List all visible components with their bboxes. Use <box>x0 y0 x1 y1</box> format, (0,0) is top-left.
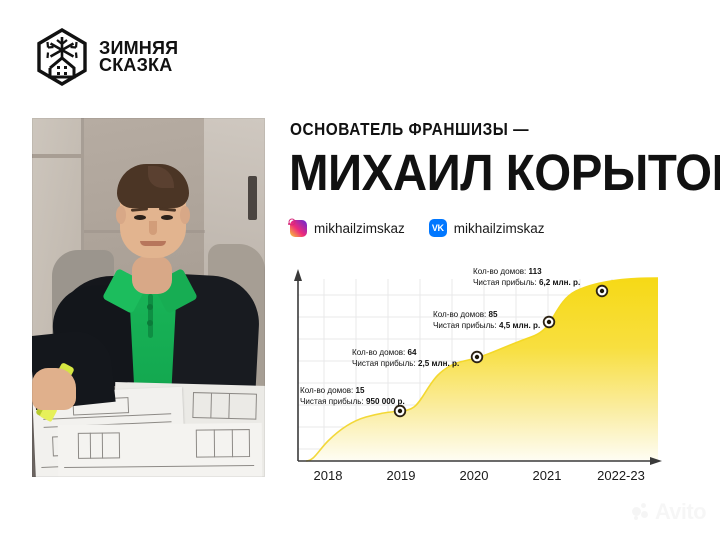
annotation-value: 113 <box>529 267 542 276</box>
instagram-handle: mikhailzimskaz <box>314 221 405 236</box>
social-links: mikhailzimskaz VK mikhailzimskaz <box>290 219 545 237</box>
annotation-value: 4,5 млн. р. <box>499 321 540 330</box>
avito-wordmark: Avito <box>655 499 706 525</box>
chart-point-2021[interactable] <box>543 316 555 328</box>
vk-icon: VK <box>429 219 447 237</box>
chart-annotation-2019: Кол-во домов: 15 Чистая прибыль: 950 000… <box>300 385 405 408</box>
annotation-value: 950 000 р. <box>366 397 405 406</box>
chart-svg <box>288 265 673 490</box>
vk-handle: mikhailzimskaz <box>454 221 545 236</box>
eyebrow-heading: ОСНОВАТЕЛЬ ФРАНШИЗЫ — <box>290 119 529 140</box>
annotation-label: Чистая прибыль: <box>352 359 416 368</box>
instagram-icon <box>290 220 307 237</box>
avito-watermark: Avito <box>632 499 706 525</box>
annotation-value: 2,5 млн. р. <box>418 359 459 368</box>
social-link-instagram[interactable]: mikhailzimskaz <box>290 220 405 237</box>
hexagon-snowflake-house-icon <box>34 27 90 87</box>
annotation-label: Кол-во домов: <box>473 267 526 276</box>
photo-border <box>32 118 265 477</box>
annotation-label: Чистая прибыль: <box>433 321 497 330</box>
brand-logo: ЗИМНЯЯ СКАЗКА <box>34 27 178 87</box>
annotation-label: Чистая прибыль: <box>473 278 537 287</box>
chart-annotation-2021: Кол-во домов: 85 Чистая прибыль: 4,5 млн… <box>433 309 540 332</box>
x-axis-label-2022-23: 2022-23 <box>597 468 645 483</box>
annotation-value: 85 <box>489 310 498 319</box>
x-axis-label-2020: 2020 <box>460 468 489 483</box>
x-axis-label-2018: 2018 <box>314 468 343 483</box>
chart-point-2022-23[interactable] <box>596 285 608 297</box>
avito-dots-icon <box>632 503 651 521</box>
annotation-value: 6,2 млн. р. <box>539 278 580 287</box>
chart-point-2020[interactable] <box>471 351 483 363</box>
annotation-label: Кол-во домов: <box>352 348 405 357</box>
growth-area-chart: Кол-во домов: 15 Чистая прибыль: 950 000… <box>288 265 673 490</box>
founder-photo <box>32 118 265 477</box>
x-axis-label-2019: 2019 <box>387 468 416 483</box>
annotation-label: Кол-во домов: <box>300 386 353 395</box>
chart-annotation-2020: Кол-во домов: 64 Чистая прибыль: 2,5 млн… <box>352 347 459 370</box>
chart-annotation-2022-23: Кол-во домов: 113 Чистая прибыль: 6,2 мл… <box>473 266 580 289</box>
x-axis-label-2021: 2021 <box>533 468 562 483</box>
annotation-label: Кол-во домов: <box>433 310 486 319</box>
logo-text-line2: СКАЗКА <box>99 57 178 74</box>
annotation-value: 64 <box>408 348 417 357</box>
social-link-vk[interactable]: VK mikhailzimskaz <box>429 219 545 237</box>
page-title: МИХАИЛ КОРЫТОВ <box>289 147 720 198</box>
annotation-value: 15 <box>356 386 365 395</box>
annotation-label: Чистая прибыль: <box>300 397 364 406</box>
